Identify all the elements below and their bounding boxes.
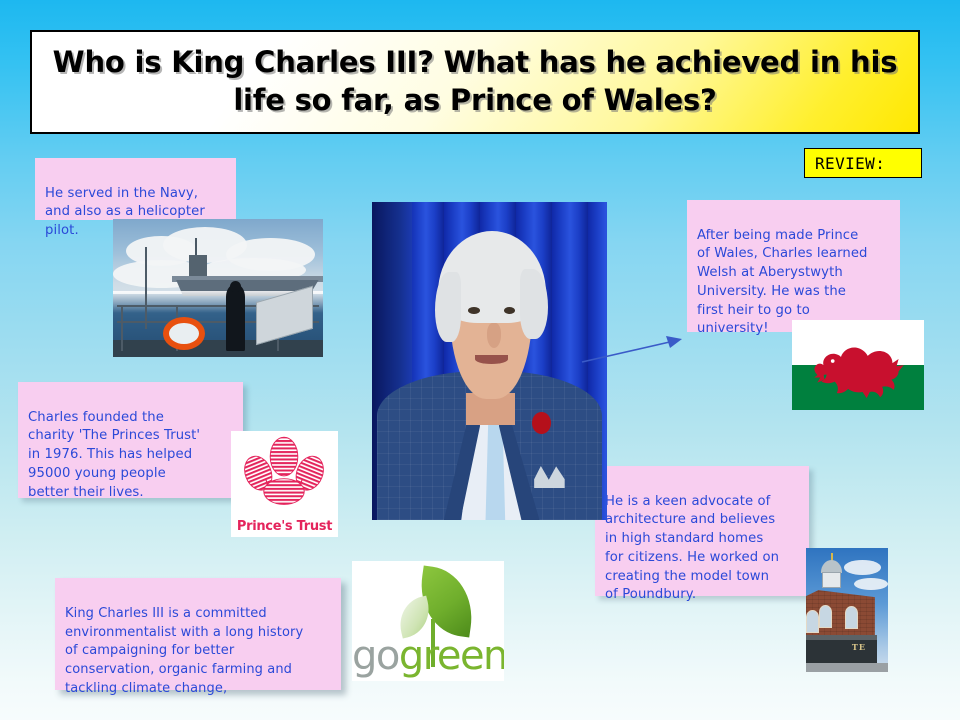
cloud-shape [854, 578, 888, 590]
railing-post [121, 305, 123, 352]
page-title: Who is King Charles III? What has he ach… [32, 44, 918, 119]
status-badge-review: REVIEW: [804, 148, 922, 178]
foreground-deck [113, 340, 323, 357]
gogreen-word-go: go [352, 633, 399, 679]
review-badge-label: REVIEW: [815, 154, 885, 173]
slide-canvas: Who is King Charles III? What has he ach… [0, 0, 960, 720]
photo-poundbury-building: TE [806, 548, 888, 672]
callout-princes-trust: Charles founded the charity 'The Princes… [18, 382, 243, 498]
sailor-head [230, 281, 241, 292]
callout-environment-text: King Charles III is a committed environm… [65, 605, 331, 699]
photo-king-charles-portrait [372, 202, 607, 520]
princes-trust-wordmark: Prince's Trust [231, 519, 338, 534]
callout-wales: After being made Prince of Wales, Charle… [687, 200, 900, 332]
three-feathers-icon [238, 435, 330, 511]
logo-princes-trust: Prince's Trust [231, 431, 338, 537]
shop-sign-text: TE [852, 642, 866, 652]
gogreen-word-g: g [399, 633, 423, 679]
pavement [806, 663, 888, 672]
gogreen-word-reen: reen [423, 633, 504, 679]
gogreen-wordmark: gogreen [352, 633, 504, 679]
arched-window [845, 606, 858, 629]
arched-window [806, 610, 819, 633]
deck-mast [145, 247, 147, 330]
charles-eye-right [504, 307, 516, 314]
callout-princes-trust-text: Charles founded the charity 'The Princes… [28, 409, 233, 503]
callout-environment: King Charles III is a committed environm… [55, 578, 341, 690]
welsh-dragon-icon [808, 336, 911, 403]
logo-gogreen: gogreen [352, 561, 504, 681]
cupola-body [822, 572, 842, 588]
charles-eye-left [468, 307, 480, 314]
photo-navy-warship [113, 219, 323, 357]
sailor-silhouette [226, 285, 245, 351]
slide-title-banner: Who is King Charles III? What has he ach… [30, 30, 920, 134]
image-welsh-flag [792, 320, 924, 410]
poppy-pin-icon [532, 412, 551, 434]
callout-architecture-text: He is a keen advocate of architecture an… [605, 493, 799, 605]
arched-window [819, 605, 832, 628]
charles-hair-left [435, 272, 461, 342]
callout-navy: He served in the Navy, and also as a hel… [35, 158, 236, 220]
callout-architecture: He is a keen advocate of architecture an… [595, 466, 809, 596]
